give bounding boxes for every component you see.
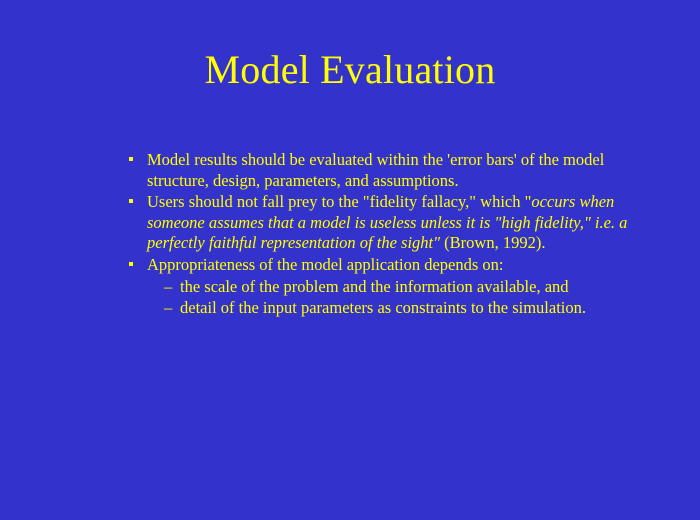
bullet-text: Model results should be evaluated within… xyxy=(147,150,604,190)
bullet-item: Users should not fall prey to the "fidel… xyxy=(128,192,658,254)
sub-bullet-item: – detail of the input parameters as cons… xyxy=(128,297,658,318)
en-dash-icon: – xyxy=(164,297,172,318)
square-bullet-icon xyxy=(129,255,143,276)
sub-bullet-list: – the scale of the problem and the infor… xyxy=(128,276,658,318)
en-dash-icon: – xyxy=(164,276,172,297)
page-title: Model Evaluation xyxy=(0,46,700,94)
bullet-text-citation: (Brown, 1992). xyxy=(440,233,545,252)
sub-bullet-text: detail of the input parameters as constr… xyxy=(180,298,586,317)
square-bullet-icon xyxy=(129,150,143,171)
bullet-item: Model results should be evaluated within… xyxy=(128,150,658,191)
bullet-text-lead: Users should not fall prey to the "fidel… xyxy=(147,192,531,211)
slide-body: Model results should be evaluated within… xyxy=(128,150,658,318)
sub-bullet-text: the scale of the problem and the informa… xyxy=(180,277,569,296)
slide-canvas: Model Evaluation Model results should be… xyxy=(0,0,700,520)
sub-bullet-item: – the scale of the problem and the infor… xyxy=(128,276,658,297)
bullet-text: Appropriateness of the model application… xyxy=(147,255,504,274)
square-bullet-icon xyxy=(129,192,143,213)
bullet-item: Appropriateness of the model application… xyxy=(128,255,658,276)
